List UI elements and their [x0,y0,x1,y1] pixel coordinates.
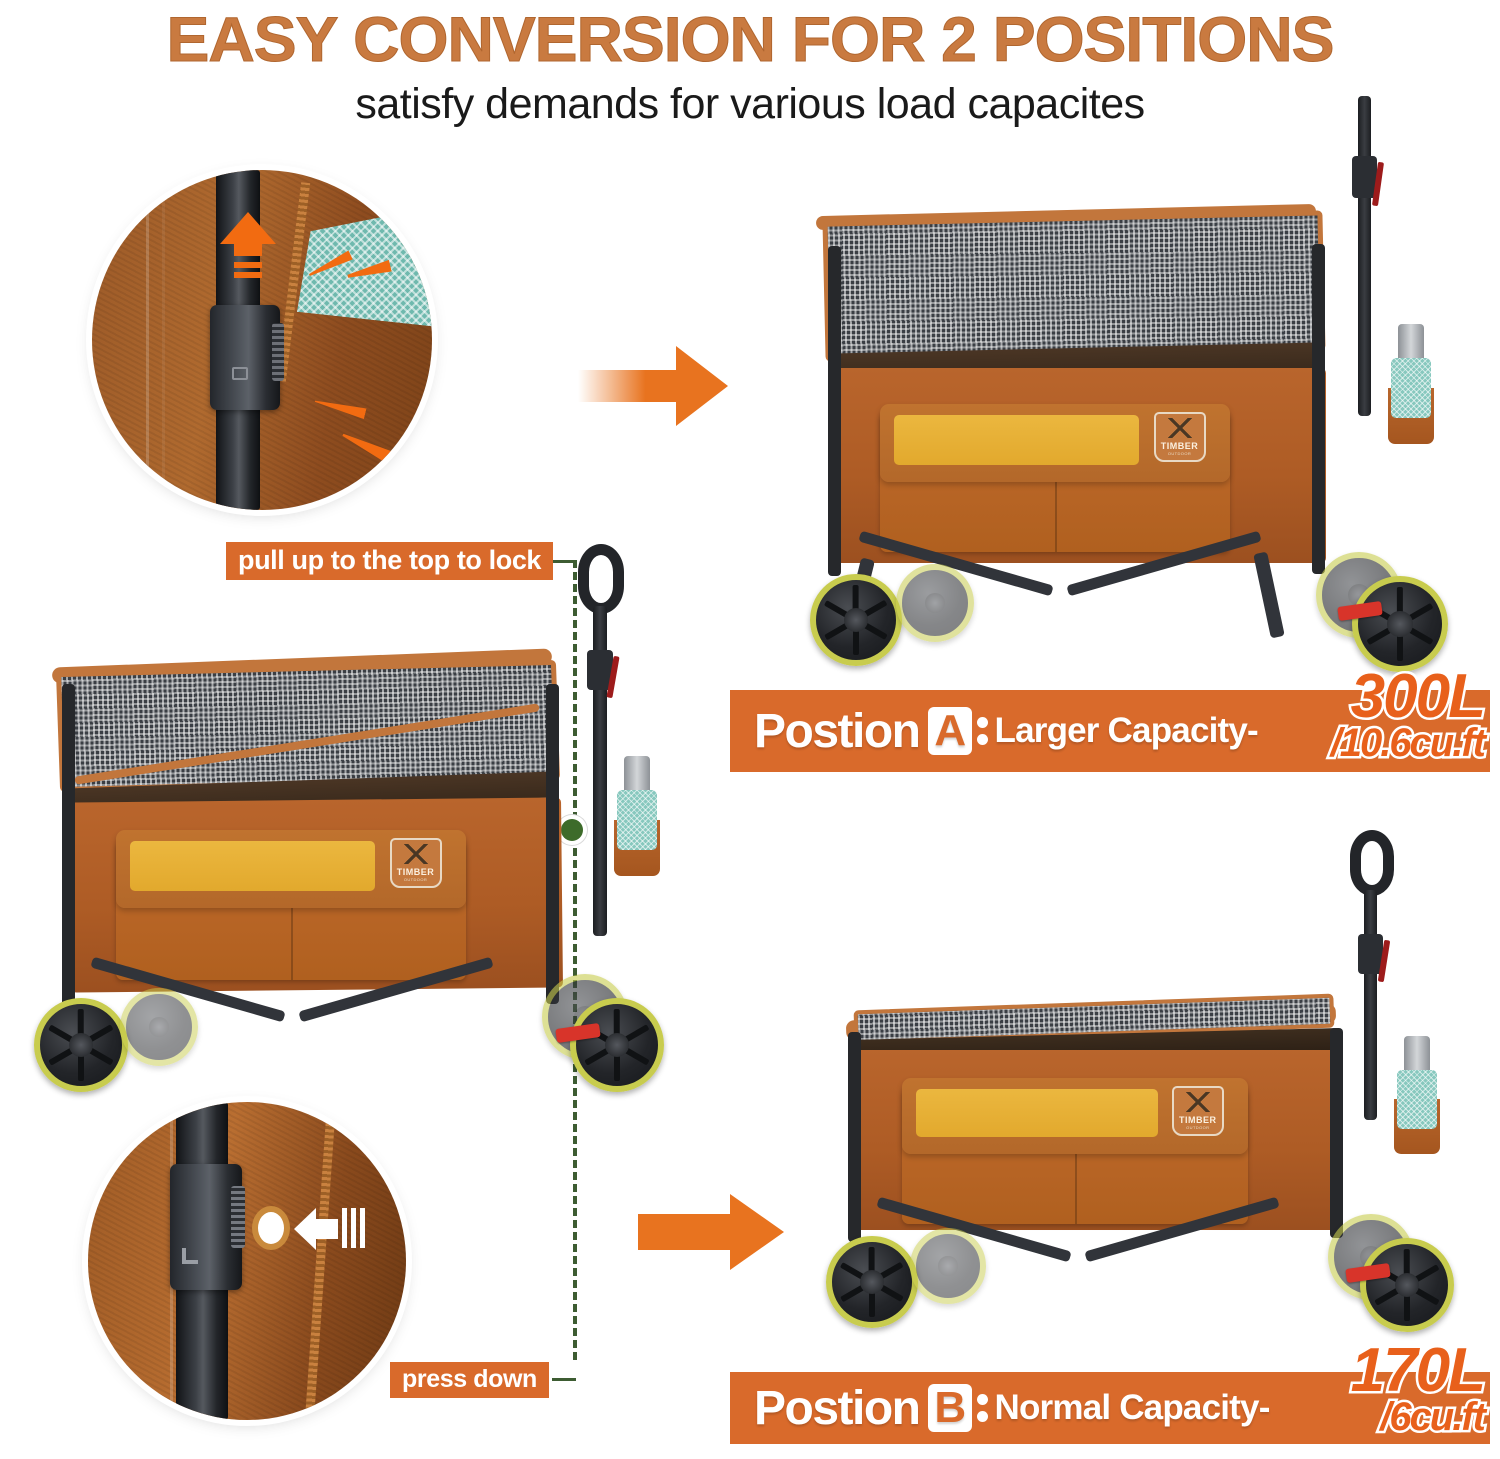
capacity-description-a: Larger Capacity- [995,711,1258,751]
accent-panel [130,841,375,891]
wagon-position-a-left-illustration: TIMBER OUTDOOR [30,640,670,1070]
mountain-icon [1180,1092,1216,1112]
infographic-canvas: EASY CONVERSION FOR 2 POSITIONS satisfy … [0,0,1500,1459]
wheel-front-right [570,998,664,1092]
wagon-position-b-illustration: TIMBER OUTDOOR [812,850,1492,1280]
collar-grip [272,323,284,381]
callout-connector-stub [553,560,575,563]
pocket-flap: TIMBER OUTDOOR [880,404,1230,482]
brand-sub: OUTDOOR [1168,451,1191,456]
lock-collar [170,1164,242,1290]
accent-panel [894,415,1139,465]
capacity-value-a: 300L /10.6cu.ft [1331,668,1484,762]
capacity-description-b: Normal Capacity- [995,1388,1270,1428]
mesh-net [1391,358,1432,418]
cup-holder [1394,1056,1440,1154]
wheel-front-left [826,1236,918,1328]
press-motion-lines [342,1208,368,1248]
frame-leg-right [546,684,559,1004]
wheel-front-left [810,574,902,666]
position-word-b: Postion [754,1381,920,1436]
cup-holder [614,776,660,876]
callout-pull-up: pull up to the top to lock [226,542,553,580]
mesh-side-panel [822,210,1325,361]
seam-line [162,170,165,510]
arrow-to-position-b [638,1192,784,1272]
frame-leg-right [1330,1028,1343,1238]
frame-leg-left [848,1032,861,1242]
position-word-a: Postion [754,704,920,759]
handle-pole [1358,96,1371,416]
mesh-net [617,790,658,850]
colon-icon [977,1394,988,1422]
page-subtitle: satisfy demands for various load capacit… [0,80,1500,129]
press-button-highlight [252,1206,290,1250]
banner-position-b: Postion B Normal Capacity- 170L /6cu.ft [730,1372,1490,1444]
handle-pole [1364,890,1377,1120]
brand-sub: OUTDOOR [1186,1125,1209,1130]
frame-leg-left [62,684,75,1014]
brand-sub: OUTDOOR [404,877,427,882]
brand-patch: TIMBER OUTDOOR [1172,1086,1224,1136]
frame-leg-right [1312,244,1325,574]
seam-line [146,170,149,510]
wheel-front-left [34,998,128,1092]
collar-grip [231,1186,245,1248]
fabric-background [88,1102,406,1420]
brand-patch: TIMBER OUTDOOR [390,838,442,888]
detail-press-closeup [88,1102,406,1420]
arrow-up-icon [220,212,276,282]
collar-notch [232,367,248,380]
page-title: EASY CONVERSION FOR 2 POSITIONS [0,4,1500,76]
capacity-liters-b: 170L [1351,1342,1484,1399]
arrow-left-icon [294,1208,338,1250]
accent-panel [916,1089,1158,1138]
handle-loop-grip [1350,830,1394,896]
mountain-icon [398,844,434,864]
callout-connector-stub [552,1378,576,1381]
position-letter-b: B [928,1384,972,1432]
brand-patch: TIMBER OUTDOOR [1154,412,1206,462]
banner-position-a: Postion A Larger Capacity- 300L /10.6cu.… [730,690,1490,772]
colon-icon [977,717,988,745]
callout-press-down: press down [390,1362,549,1398]
lock-collar [210,305,280,410]
capacity-value-b: 170L /6cu.ft [1351,1342,1484,1436]
brand-name: TIMBER [397,867,435,877]
detail-lock-closeup [92,170,432,510]
wheel-front-right [1360,1238,1454,1332]
cup-holder [1388,344,1434,444]
wheel-rear-left [910,1228,986,1304]
handle-loop-grip [578,544,624,614]
mountain-icon [1162,418,1198,438]
brand-name: TIMBER [1179,1115,1217,1125]
wagon-position-a-illustration: TIMBER OUTDOOR [792,186,1492,666]
pocket-flap: TIMBER OUTDOOR [116,830,466,908]
wheel-rear-left [896,564,974,642]
wheel-rear-left [120,988,198,1066]
wheel-front-right [1352,576,1448,672]
frame-strut [1253,551,1285,638]
mesh-net [1397,1070,1438,1129]
capacity-liters-a: 300L [1331,668,1484,725]
frame-leg-left [828,246,841,576]
arrow-to-position-a [578,340,728,432]
pocket-flap: TIMBER OUTDOOR [902,1078,1248,1154]
collar-notch [182,1248,198,1264]
brand-name: TIMBER [1161,441,1199,451]
capacity-cuft-a: /10.6cu.ft [1331,725,1484,762]
position-letter-a: A [928,707,972,755]
